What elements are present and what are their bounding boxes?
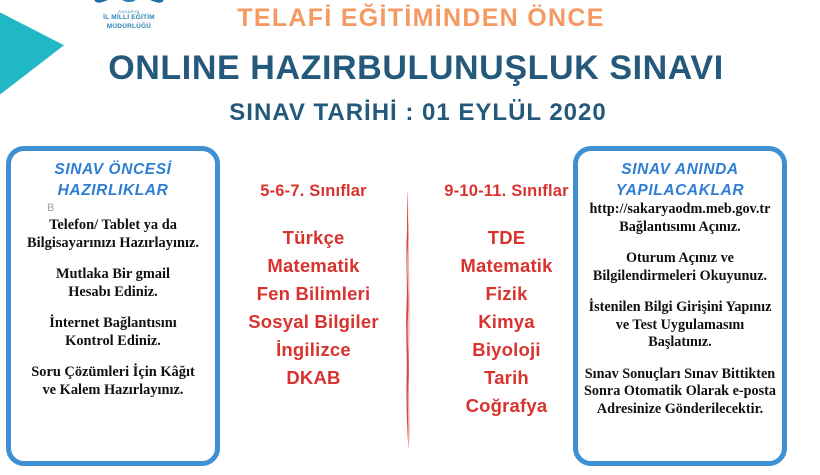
right-box-title-line1: SINAV ANINDA xyxy=(584,159,776,180)
pre-exam-preparations-box: SINAV ÖNCESİ HAZIRLIKLAR B Telefon/ Tabl… xyxy=(6,146,220,466)
subject-item: Coğrafya xyxy=(425,392,588,420)
left-box-item-1: Telefon/ Tablet ya daBilgisayarınızı Haz… xyxy=(17,217,209,252)
subject-item: Sosyal Bilgiler xyxy=(232,308,395,336)
subject-item: Fizik xyxy=(425,280,588,308)
left-box-title-line1: SINAV ÖNCESİ xyxy=(17,159,209,180)
left-box-item-2: Mutlaka Bir gmailHesabı Ediniz. xyxy=(17,266,209,301)
grade-column-heading: 9-10-11. Sınıflar xyxy=(425,182,588,201)
subject-item: Tarih xyxy=(425,364,588,392)
right-box-title-line2: YAPILACAKLAR xyxy=(584,180,776,201)
subject-item: DKAB xyxy=(232,364,395,392)
subject-item: Matematik xyxy=(232,252,395,280)
subject-item: TDE xyxy=(425,224,588,252)
during-exam-actions-box: SINAV ANINDA YAPILACAKLAR http://sakarya… xyxy=(573,146,787,466)
poster-exam-date: SINAV TARİHİ : 01 EYLÜL 2020 xyxy=(0,99,820,127)
subject-item: Matematik xyxy=(425,252,588,280)
right-box-item-1: http://sakaryaodm.meb.gov.trBağlantısımı… xyxy=(584,201,776,236)
subject-item: Biyoloji xyxy=(425,336,588,364)
left-box-item-3: İnternet BağlantısınıKontrol Ediniz. xyxy=(17,315,209,350)
logo-core-icon xyxy=(118,0,140,2)
right-box-item-4: Sınav Sonuçları Sınav BittiktenSonra Oto… xyxy=(584,366,776,419)
poster-title: ONLINE HAZIRBULUNUŞLUK SINAVI xyxy=(0,49,820,88)
right-box-item-2: Oturum Açınız veBilgilendirmeleri Okuyun… xyxy=(584,250,776,285)
grade-subjects-area: 5-6-7. Sınıflar Türkçe Matematik Fen Bil… xyxy=(232,182,588,472)
grade-column-9-10-11: 9-10-11. Sınıflar TDE Matematik Fizik Ki… xyxy=(425,182,588,420)
right-box-item-3: İstenilen Bilgi Girişini Yapınızve Test … xyxy=(584,299,776,352)
subject-item: İngilizce xyxy=(232,336,395,364)
grade-column-heading: 5-6-7. Sınıflar xyxy=(232,182,395,201)
subject-item: Türkçe xyxy=(232,224,395,252)
subject-item: Fen Bilimleri xyxy=(232,280,395,308)
left-box-stray-character: B xyxy=(17,201,209,217)
poster-canvas: SAKARYA İL MİLLİ EĞİTİM MÜDÜRLÜĞÜ TELAFİ… xyxy=(0,0,820,475)
poster-kicker: TELAFİ EĞİTİMİNDEN ÖNCE xyxy=(0,4,820,33)
left-box-item-4: Soru Çözümleri İçin Kâğıtve Kalem Hazırl… xyxy=(17,364,209,399)
subject-item: Kimya xyxy=(425,308,588,336)
left-box-title-line2: HAZIRLIKLAR xyxy=(17,180,209,201)
red-brush-divider xyxy=(404,188,413,450)
grade-column-5-6-7: 5-6-7. Sınıflar Türkçe Matematik Fen Bil… xyxy=(232,182,395,392)
